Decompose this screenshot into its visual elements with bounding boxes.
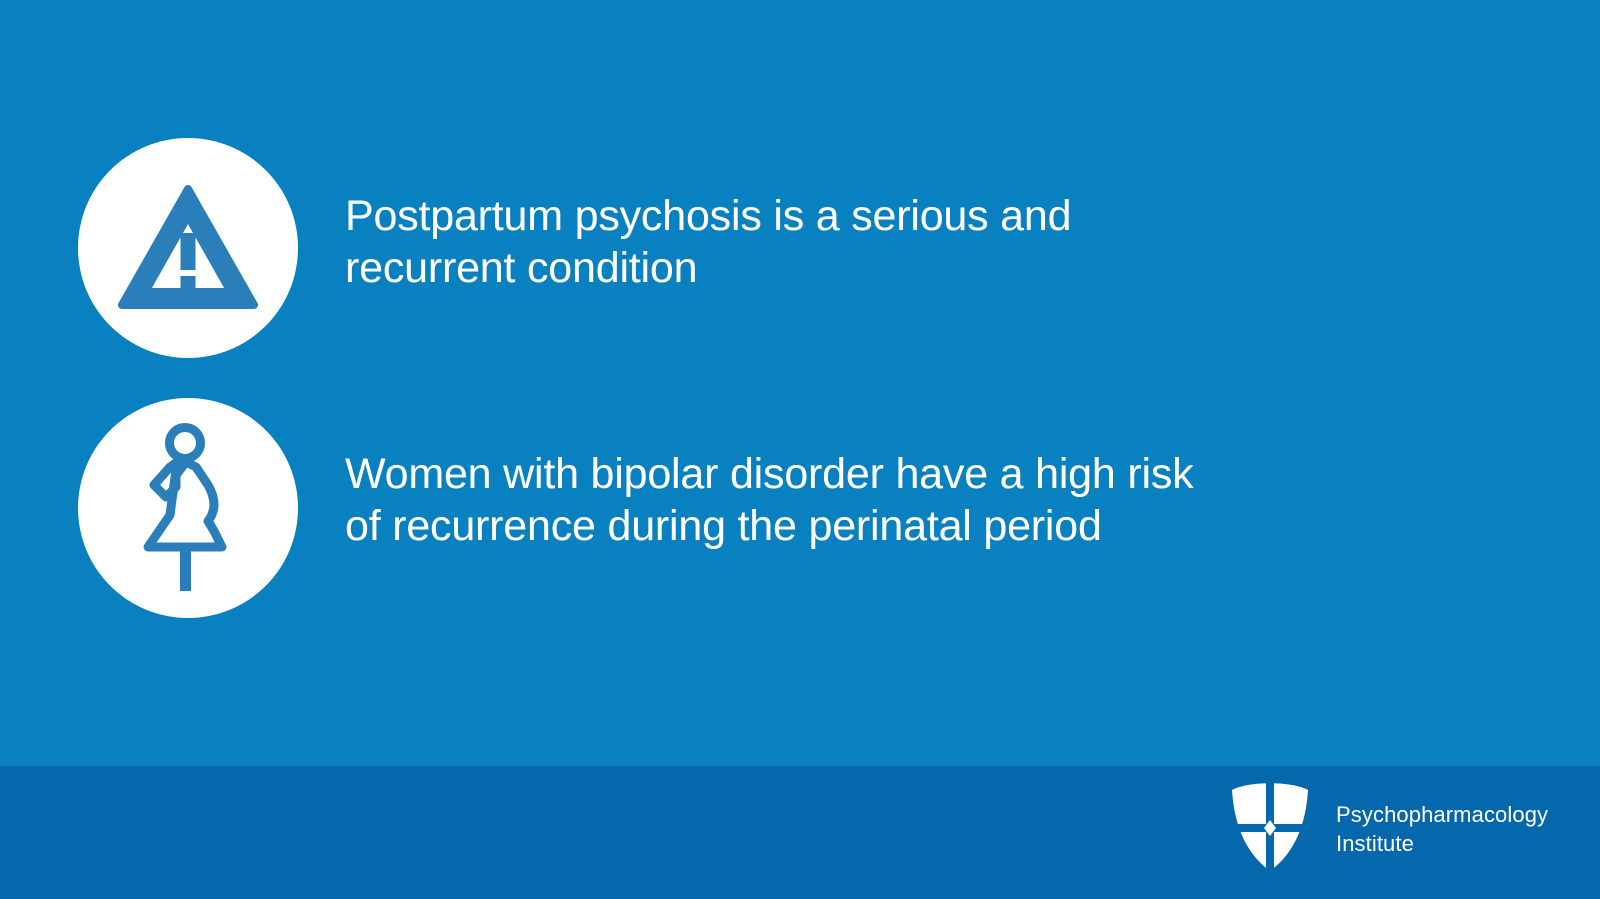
brand-logo[interactable]: Psychopharmacology Institute bbox=[1228, 778, 1548, 879]
shield-icon bbox=[1228, 778, 1312, 879]
logo-wordmark: Psychopharmacology Institute bbox=[1336, 800, 1548, 858]
bullet-text: Postpartum psychosis is a serious and re… bbox=[345, 190, 1071, 294]
bullet-row: Postpartum psychosis is a serious and re… bbox=[0, 138, 1600, 358]
pregnant-woman-icon bbox=[130, 423, 246, 593]
icon-circle-warning bbox=[78, 138, 298, 358]
icon-circle-pregnant-woman bbox=[78, 398, 298, 618]
bullet-text: Women with bipolar disorder have a high … bbox=[345, 448, 1193, 552]
bullet-row: Women with bipolar disorder have a high … bbox=[0, 398, 1600, 618]
warning-triangle-icon bbox=[118, 185, 258, 311]
slide-canvas: Postpartum psychosis is a serious and re… bbox=[0, 0, 1600, 899]
